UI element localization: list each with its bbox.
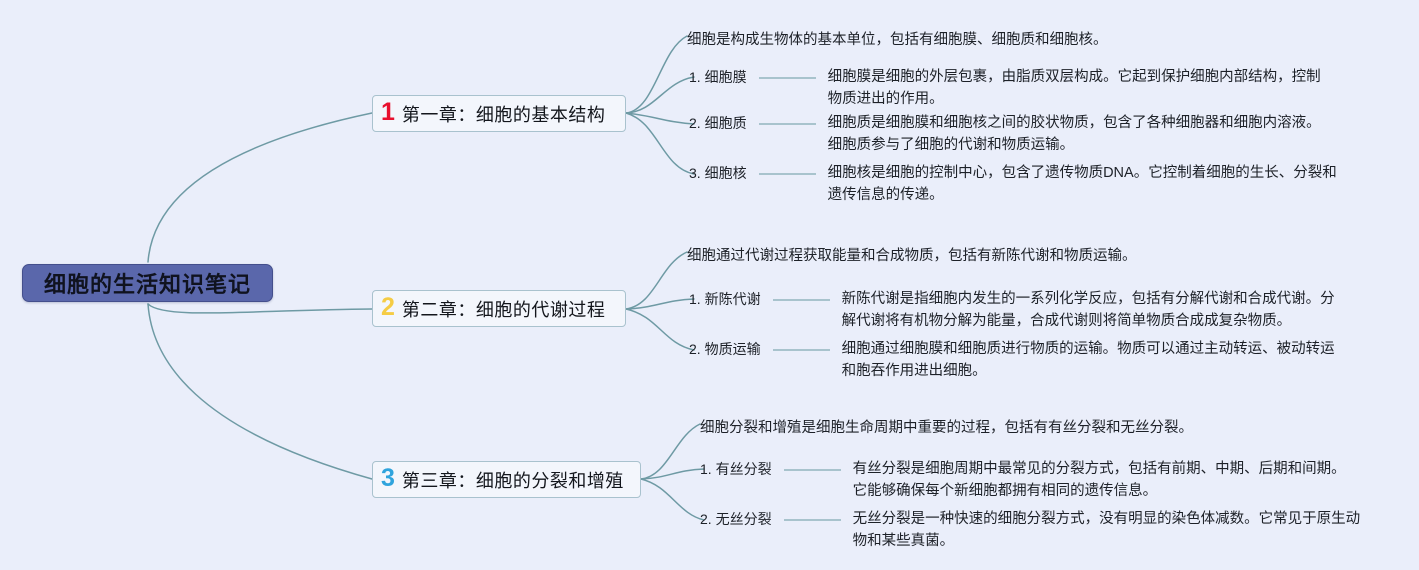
link-c2-leaf-1 bbox=[626, 299, 694, 309]
chapter-summary-2: 细胞通过代谢过程获取能量和合成物质，包括有新陈代谢和物质运输。 bbox=[687, 246, 1137, 268]
leaf-row-1-3[interactable]: 3. 细胞核 细胞核是细胞的控制中心，包含了遗传物质DNA。它控制着细胞的生长、… bbox=[689, 162, 1338, 207]
chapter-node-3[interactable]: 3 第三章：细胞的分裂和增殖 bbox=[372, 461, 641, 498]
leaf-desc-3-2: 无丝分裂是一种快速的细胞分裂方式，没有明显的染色体减数。它常见于原生动物和某些真… bbox=[853, 508, 1373, 553]
leaf-desc-3-1: 有丝分裂是细胞周期中最常见的分裂方式，包括有前期、中期、后期和间期。它能够确保每… bbox=[853, 458, 1358, 503]
leaf-row-1-2[interactable]: 2. 细胞质 细胞质是细胞膜和细胞核之间的胶状物质，包含了各种细胞器和细胞内溶液… bbox=[689, 112, 1333, 157]
chapter-title-2: 第二章：细胞的代谢过程 bbox=[402, 296, 606, 322]
link-root-chapter-2 bbox=[148, 304, 372, 313]
leaf-connector-dash bbox=[759, 173, 816, 175]
leaf-label-1-3: 3. 细胞核 bbox=[689, 162, 747, 183]
leaf-row-3-2[interactable]: 2. 无丝分裂 无丝分裂是一种快速的细胞分裂方式，没有明显的染色体减数。它常见于… bbox=[700, 508, 1373, 553]
chapter-title-1: 第一章：细胞的基本结构 bbox=[402, 101, 606, 127]
leaf-label-3-1: 1. 有丝分裂 bbox=[700, 458, 772, 479]
leaf-label-2-2: 2. 物质运输 bbox=[689, 338, 761, 359]
chapter-summary-3: 细胞分裂和增殖是细胞生命周期中重要的过程，包括有有丝分裂和无丝分裂。 bbox=[700, 418, 1193, 440]
link-c1-summary bbox=[626, 36, 687, 113]
root-node[interactable]: 细胞的生活知识笔记 bbox=[22, 264, 273, 302]
chapter-number-3: 3 bbox=[381, 466, 395, 491]
link-c2-summary bbox=[626, 252, 687, 309]
leaf-connector-dash bbox=[784, 469, 841, 471]
root-node-label: 细胞的生活知识笔记 bbox=[44, 267, 251, 299]
leaf-row-3-1[interactable]: 1. 有丝分裂 有丝分裂是细胞周期中最常见的分裂方式，包括有前期、中期、后期和间… bbox=[700, 458, 1358, 503]
leaf-row-2-1[interactable]: 1. 新陈代谢 新陈代谢是指细胞内发生的一系列化学反应，包括有分解代谢和合成代谢… bbox=[689, 288, 1344, 333]
leaf-connector-dash bbox=[759, 123, 816, 125]
leaf-connector-dash bbox=[759, 77, 816, 79]
leaf-desc-2-2: 细胞通过细胞膜和细胞质进行物质的运输。物质可以通过主动转运、被动转运和胞吞作用进… bbox=[842, 338, 1342, 383]
chapter-summary-1: 细胞是构成生物体的基本单位，包括有细胞膜、细胞质和细胞核。 bbox=[687, 30, 1108, 52]
leaf-connector-dash bbox=[773, 299, 830, 301]
chapter-node-2[interactable]: 2 第二章：细胞的代谢过程 bbox=[372, 290, 626, 327]
leaf-desc-2-1: 新陈代谢是指细胞内发生的一系列化学反应，包括有分解代谢和合成代谢。分解代谢将有机… bbox=[842, 288, 1344, 333]
leaf-desc-1-2: 细胞质是细胞膜和细胞核之间的胶状物质，包含了各种细胞器和细胞内溶液。细胞质参与了… bbox=[828, 112, 1333, 157]
chapter-node-1[interactable]: 1 第一章：细胞的基本结构 bbox=[372, 95, 626, 132]
leaf-row-2-2[interactable]: 2. 物质运输 细胞通过细胞膜和细胞质进行物质的运输。物质可以通过主动转运、被动… bbox=[689, 338, 1342, 383]
link-root-chapter-1 bbox=[148, 113, 372, 262]
link-c3-summary bbox=[641, 424, 700, 479]
leaf-label-2-1: 1. 新陈代谢 bbox=[689, 288, 761, 309]
leaf-row-1-1[interactable]: 1. 细胞膜 细胞膜是细胞的外层包裹，由脂质双层构成。它起到保护细胞内部结构，控… bbox=[689, 66, 1333, 111]
chapter-title-3: 第三章：细胞的分裂和增殖 bbox=[402, 467, 624, 493]
link-c3-leaf-2 bbox=[641, 479, 704, 520]
link-root-chapter-3 bbox=[148, 304, 372, 479]
link-c1-leaf-1 bbox=[626, 77, 694, 113]
leaf-desc-1-1: 细胞膜是细胞的外层包裹，由脂质双层构成。它起到保护细胞内部结构，控制物质进出的作… bbox=[828, 66, 1333, 111]
chapter-number-2: 2 bbox=[381, 295, 395, 320]
leaf-label-1-1: 1. 细胞膜 bbox=[689, 66, 747, 87]
link-c1-leaf-2 bbox=[626, 113, 694, 124]
leaf-connector-dash bbox=[773, 349, 830, 351]
leaf-desc-1-3: 细胞核是细胞的控制中心，包含了遗传物质DNA。它控制着细胞的生长、分裂和遗传信息… bbox=[828, 162, 1338, 207]
mindmap-canvas: 细胞的生活知识笔记 1 第一章：细胞的基本结构 细胞是构成生物体的基本单位，包括… bbox=[0, 0, 1419, 570]
leaf-connector-dash bbox=[784, 519, 841, 521]
link-c1-leaf-3 bbox=[626, 113, 694, 174]
leaf-label-1-2: 2. 细胞质 bbox=[689, 112, 747, 133]
link-c3-leaf-1 bbox=[641, 469, 704, 479]
leaf-label-3-2: 2. 无丝分裂 bbox=[700, 508, 772, 529]
chapter-number-1: 1 bbox=[381, 100, 395, 125]
link-c2-leaf-2 bbox=[626, 309, 694, 350]
